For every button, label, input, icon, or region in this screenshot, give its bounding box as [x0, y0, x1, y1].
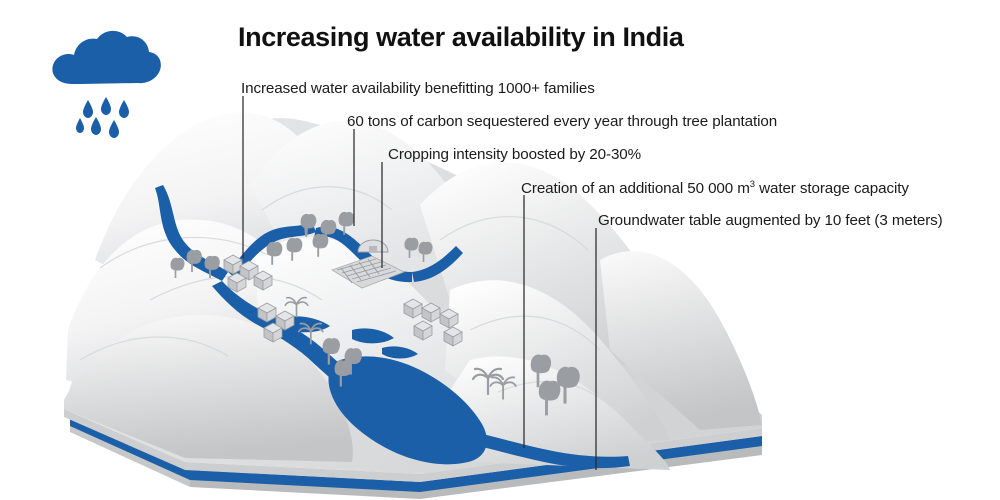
rain-cloud-icon — [52, 31, 160, 138]
raindrops — [76, 97, 129, 138]
page-title: Increasing water availability in India — [238, 22, 683, 53]
callout-groundwater: Groundwater table augmented by 10 feet (… — [598, 212, 943, 229]
infographic-canvas: Increasing water availability in India I… — [0, 0, 1000, 500]
cloud-shape — [52, 31, 160, 84]
callout-cropping: Cropping intensity boosted by 20-30% — [388, 146, 641, 163]
callout-storage-prefix: Creation of an additional 50 000 m — [521, 180, 750, 197]
terrain-block — [64, 112, 762, 499]
callout-storage: Creation of an additional 50 000 m3 wate… — [521, 179, 909, 197]
callout-families: Increased water availability benefitting… — [241, 80, 595, 97]
callout-storage-suffix: water storage capacity — [755, 180, 909, 197]
callout-carbon: 60 tons of carbon sequestered every year… — [347, 113, 777, 130]
watershed-illustration — [0, 0, 1000, 500]
